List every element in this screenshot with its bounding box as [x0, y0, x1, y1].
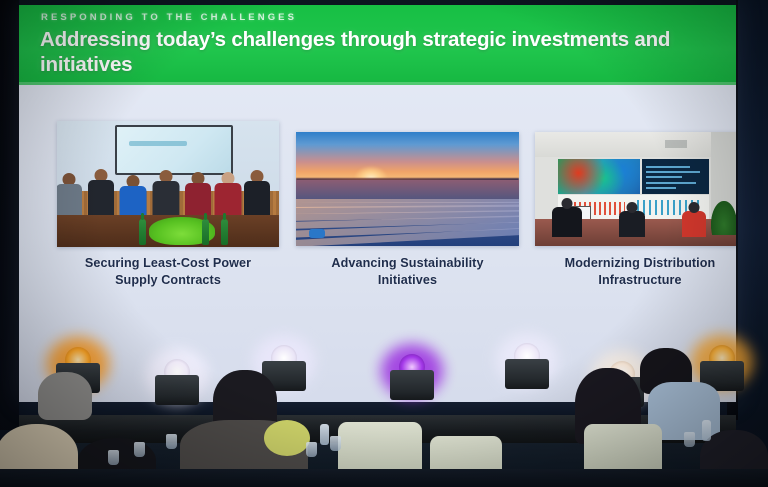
card-3-caption-line2: Infrastructure	[535, 272, 736, 289]
audience-member	[264, 420, 310, 456]
drinking-glass	[330, 436, 341, 451]
photo-solar-farm	[296, 132, 519, 246]
drinking-glass	[108, 450, 119, 465]
projection-screen: RESPONDING TO THE CHALLENGES Addressing …	[19, 0, 736, 402]
slide-header-band: RESPONDING TO THE CHALLENGES Addressing …	[19, 5, 736, 85]
photo3-ceiling	[535, 132, 736, 157]
card-2-caption-line1: Advancing Sustainability	[296, 255, 519, 272]
conference-hall-scene: RESPONDING TO THE CHALLENGES Addressing …	[0, 0, 768, 487]
slide-eyebrow: RESPONDING TO THE CHALLENGES	[41, 12, 297, 23]
card-3-caption: Modernizing Distribution Infrastructure	[535, 255, 736, 289]
banquet-table	[0, 469, 768, 487]
photo2-panel-field	[296, 180, 519, 246]
photo1-whiteboard	[115, 125, 233, 175]
photo1-bottle	[202, 219, 209, 245]
moving-head-light-white	[155, 359, 199, 405]
photo1-bottle	[221, 219, 228, 245]
photo-control-room	[535, 132, 736, 246]
card-3-caption-line1: Modernizing Distribution	[535, 255, 736, 272]
photo2-sky	[296, 132, 519, 180]
slide-title: Addressing today’s challenges through st…	[40, 27, 710, 77]
hall-left-wall	[0, 0, 19, 430]
drinking-glass	[306, 442, 317, 457]
photo3-data-display	[642, 159, 709, 193]
drinking-glass	[684, 432, 695, 447]
water-bottle	[702, 420, 711, 441]
water-bottle	[320, 424, 329, 445]
photo1-bottle	[139, 219, 146, 245]
card-1-caption: Securing Least-Cost Power Supply Contrac…	[57, 255, 279, 289]
photo3-operator	[552, 207, 582, 237]
photo-boardroom-group	[57, 121, 279, 247]
photo3-map-display	[558, 159, 640, 193]
photo3-operator	[619, 211, 645, 237]
photo3-operator	[682, 211, 706, 237]
drinking-glass	[166, 434, 177, 449]
moving-head-light-white	[505, 343, 549, 389]
moving-head-light-purple	[390, 354, 434, 400]
audience-member	[38, 372, 92, 420]
photo2-vehicle	[309, 229, 325, 238]
drinking-glass	[134, 442, 145, 457]
card-2-caption-line2: Initiatives	[296, 272, 519, 289]
photo3-plant	[711, 201, 736, 235]
card-2-caption: Advancing Sustainability Initiatives	[296, 255, 519, 289]
card-1-caption-line1: Securing Least-Cost Power	[57, 255, 279, 272]
card-1-caption-line2: Supply Contracts	[57, 272, 279, 289]
